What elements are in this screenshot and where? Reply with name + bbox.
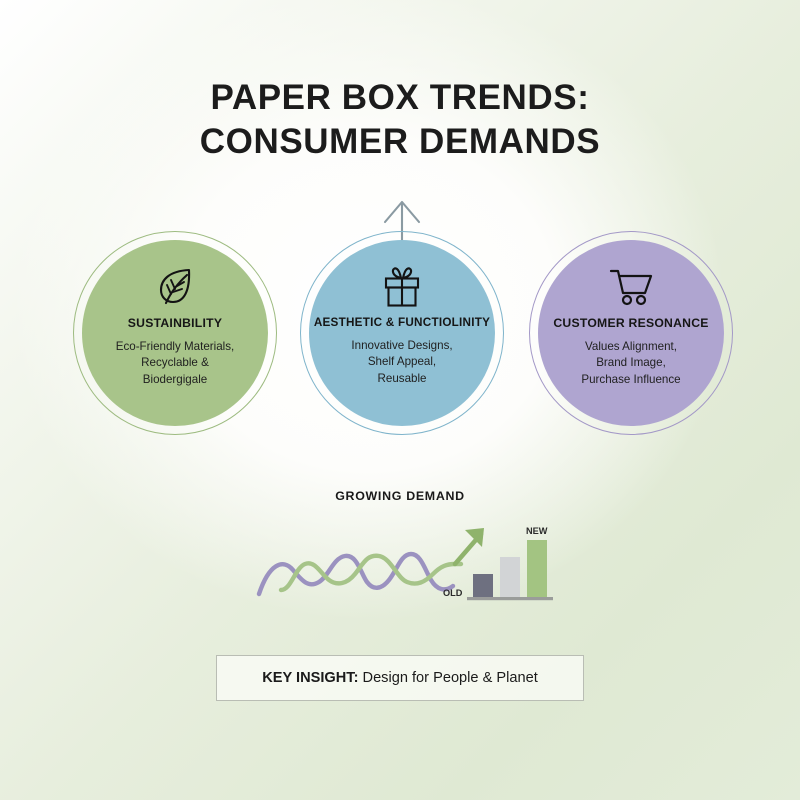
pillar-title-sustainability: SUSTAINBILITY [128,316,222,330]
key-insight-box: KEY INSIGHT: Design for People & Planet [216,655,584,701]
bar-label-old: OLD [443,588,463,598]
pillar-title-customer: CUSTOMER RESONANCE [553,316,708,330]
pillar-title-aesthetic: AESTHETIC & FUNCTIOLINITY [314,316,490,329]
pillar-desc-line: Values Alignment, [547,339,715,355]
growing-demand-heading: GROWING DEMAND [0,489,800,503]
title-line-1: PAPER BOX TRENDS: [0,76,800,120]
pillar-desc-customer: Values Alignment, Brand Image, Purchase … [547,339,715,388]
pillar-desc-line: Shelf Appeal, [318,354,486,370]
pillar-sustainability[interactable]: SUSTAINBILITY Eco-Friendly Materials, Re… [82,240,268,426]
key-insight-value: Design for People & Planet [358,670,537,686]
pillar-desc-line: Purchase Influence [547,372,715,388]
title-line-2: CONSUMER DEMANDS [0,120,800,164]
chart-baseline [467,597,553,600]
pillar-desc-line: Reusable [318,371,486,387]
bar-label-new: NEW [526,526,548,536]
infographic-canvas: PAPER BOX TRENDS: CONSUMER DEMANDS SUSTA… [0,0,800,800]
pillar-desc-line: Recyclable & [91,355,259,371]
pillar-desc-line: Brand Image, [547,355,715,371]
growing-demand-chart: OLD NEW [255,512,555,604]
pillar-desc-line: Eco-Friendly Materials, [91,339,259,355]
pillar-desc-sustainability: Eco-Friendly Materials, Recyclable & Bio… [91,339,259,388]
page-title: PAPER BOX TRENDS: CONSUMER DEMANDS [0,76,800,164]
key-insight-text: KEY INSIGHT: Design for People & Planet [262,670,538,686]
pillar-desc-line: Innovative Designs, [318,338,486,354]
leaf-icon [155,264,195,310]
bar-old [473,574,493,597]
shopping-cart-icon [608,264,654,310]
bar-mid [500,557,520,597]
bar-new [527,540,547,597]
key-insight-label: KEY INSIGHT: [262,670,358,686]
pillar-desc-line: Biodergigale [91,372,259,388]
pillar-customer-resonance[interactable]: CUSTOMER RESONANCE Values Alignment, Bra… [538,240,724,426]
pillar-desc-aesthetic: Innovative Designs, Shelf Appeal, Reusab… [318,338,486,387]
pillar-aesthetic-functionality[interactable]: AESTHETIC & FUNCTIOLINITY Innovative Des… [309,240,495,426]
gift-box-icon [381,264,423,310]
